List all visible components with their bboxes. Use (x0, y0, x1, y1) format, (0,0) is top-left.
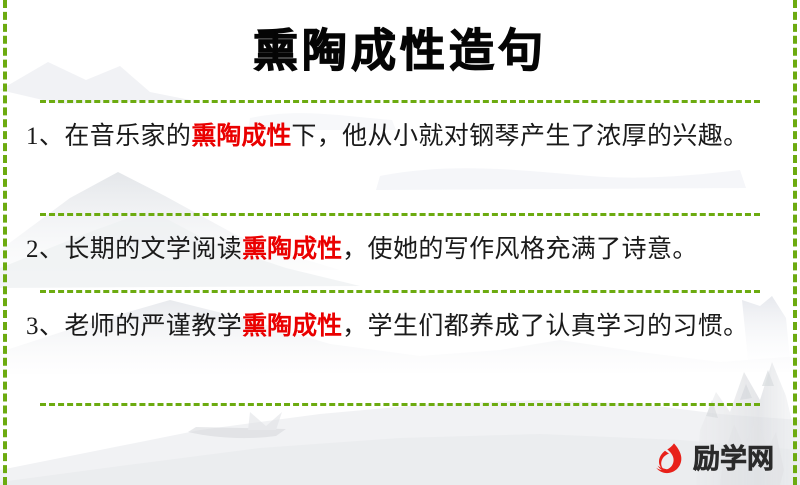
example-sentences-card: 熏陶成性造句 1、在音乐家的熏陶成性下，他从小就对钢琴产生了浓厚的兴趣。 2、长… (0, 0, 800, 485)
title-row: 熏陶成性造句 (22, 0, 778, 100)
sentence-text-after-1: 下，他从小就对钢琴产生了浓厚的兴趣。 (291, 123, 748, 150)
divider-bottom (40, 403, 760, 406)
sentence-item-3: 3、老师的严谨教学熏陶成性，学生们都养成了认真学习的习惯。 (22, 293, 778, 403)
sentence-item-1: 1、在音乐家的熏陶成性下，他从小就对钢琴产生了浓厚的兴趣。 (22, 103, 778, 213)
keyword-highlight-2: 熏陶成性 (242, 234, 342, 263)
sentence-text-before-2: 长期的文学阅读 (64, 236, 242, 263)
sentence-item-2: 2、长期的文学阅读熏陶成性，使她的写作风格充满了诗意。 (22, 216, 778, 290)
red-swirl-flame-icon (652, 441, 688, 477)
sentence-number-1: 1、 (26, 123, 64, 150)
watermark-logo: 励学网 (652, 441, 774, 477)
page-border-right (793, 0, 797, 485)
sentence-number-2: 2、 (26, 236, 64, 263)
sentence-text-after-2: ，使她的写作风格充满了诗意。 (342, 236, 698, 263)
brand-name: 励学网 (693, 446, 774, 473)
sentence-number-3: 3、 (26, 313, 64, 340)
keyword-highlight-3: 熏陶成性 (242, 311, 342, 340)
page-border-left (3, 0, 7, 485)
sentence-text-before-3: 老师的严谨教学 (64, 313, 242, 340)
page-title: 熏陶成性造句 (253, 28, 547, 73)
sentence-text-before-1: 在音乐家的 (64, 123, 191, 150)
keyword-highlight-1: 熏陶成性 (191, 121, 291, 150)
sentence-text-after-3: ，学生们都养成了认真学习的习惯。 (342, 313, 748, 340)
